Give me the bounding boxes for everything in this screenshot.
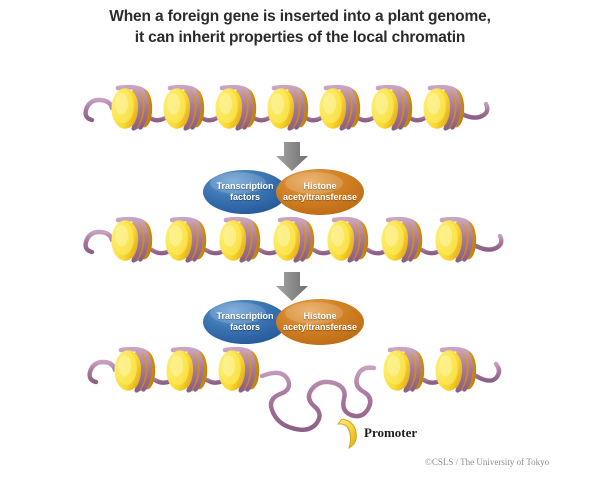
- nucleosome: [423, 87, 464, 129]
- panel-1-chromatin-row: [86, 87, 488, 129]
- nucleosome: [111, 219, 152, 261]
- dna-tail-left: [86, 232, 112, 252]
- nucleosome: [215, 87, 256, 129]
- dna-tail-right: [462, 104, 487, 118]
- dna-tail-right: [476, 364, 499, 381]
- tf-highlight: [210, 172, 266, 194]
- dna-tail-left: [90, 362, 115, 382]
- nucleosome: [383, 349, 424, 391]
- panel-2-chromatin-row: [86, 219, 502, 261]
- nucleosome: [111, 87, 152, 129]
- nucleosome: [435, 219, 476, 261]
- dna-tail-right: [476, 236, 501, 250]
- panel-2-proteins: [203, 169, 364, 215]
- nucleosome: [166, 349, 207, 391]
- nucleosome-row-1: [111, 87, 464, 129]
- copyright-credit: ©CSLS / The University of Tokyo: [425, 457, 549, 467]
- nucleosome: [219, 219, 260, 261]
- down-arrow-icon: [276, 142, 308, 171]
- dna-tail-left: [86, 100, 112, 120]
- nucleosome: [319, 87, 360, 129]
- promoter-marker: [338, 419, 356, 448]
- nucleosome: [267, 87, 308, 129]
- panel-3-chromatin-row: [90, 349, 499, 448]
- diagram-canvas: [0, 0, 600, 480]
- chromatin-figure: When a foreign gene is inserted into a p…: [0, 0, 600, 480]
- nucleosome: [163, 87, 204, 129]
- nucleosome: [114, 349, 155, 391]
- hat-highlight: [285, 302, 343, 324]
- promoter-label: Promoter: [364, 425, 417, 441]
- arrow-2-down: [276, 272, 308, 301]
- nucleosome-row-3-left: [114, 349, 259, 391]
- nucleosome: [371, 87, 412, 129]
- tf-highlight: [210, 302, 266, 324]
- nucleosome: [218, 349, 259, 391]
- panel-3-proteins: [203, 299, 364, 345]
- nucleosome: [165, 219, 206, 261]
- nucleosome: [381, 219, 422, 261]
- down-arrow-icon: [276, 272, 308, 301]
- nucleosome: [327, 219, 368, 261]
- nucleosome: [273, 219, 314, 261]
- nucleosome: [435, 349, 476, 391]
- hat-highlight: [285, 172, 343, 194]
- exposed-dna-loop: [262, 368, 374, 430]
- arrow-1-down: [276, 142, 308, 171]
